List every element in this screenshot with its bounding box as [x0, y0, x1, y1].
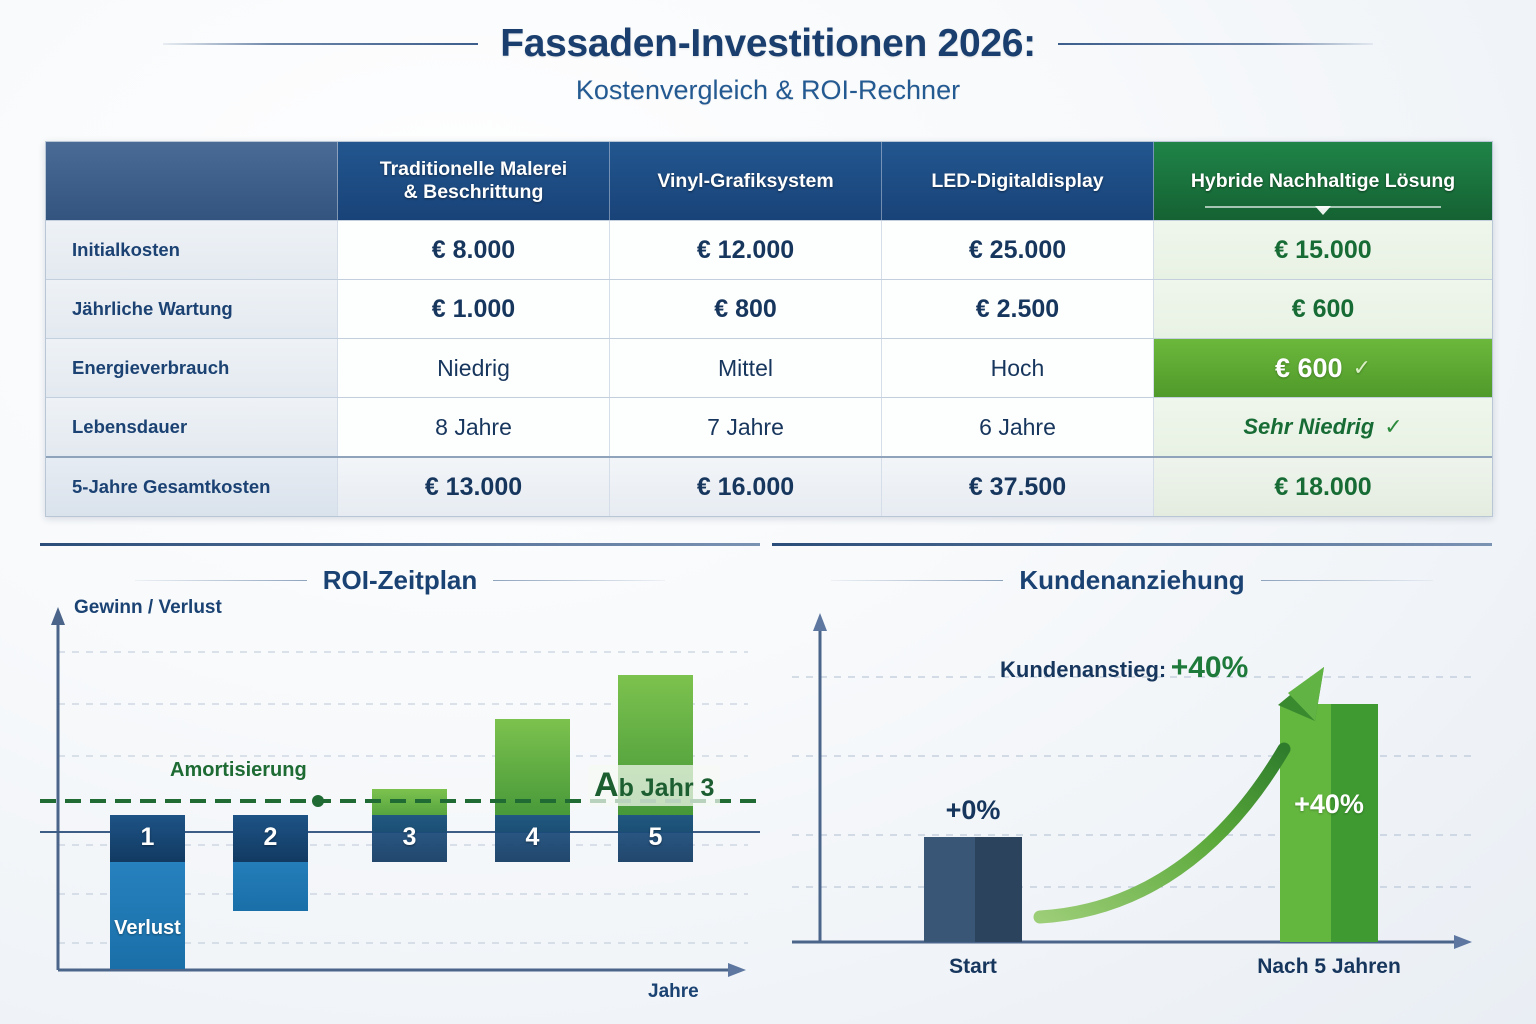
cell-hybrid-value: € 15.000 [1274, 236, 1371, 265]
row-label: 5-Jahre Gesamtkosten [46, 458, 338, 516]
bar-year-label-3: 3 [372, 823, 447, 852]
table-header-cell-vinyl: Vinyl-Grafiksystem [610, 142, 882, 220]
table-row: Energieverbrauch Niedrig Mittel Hoch € 6… [46, 338, 1492, 397]
title-row: Fassaden-Investitionen 2026: [0, 22, 1536, 66]
cell-traditional: € 1.000 [338, 280, 610, 338]
cell-hybrid: € 15.000 [1154, 221, 1492, 279]
amortisierung-point [312, 795, 324, 807]
y-axis-label: Gewinn / Verlust [74, 597, 222, 619]
bar-year-5 [618, 675, 693, 832]
x-axis-label: Jahre [648, 981, 699, 1003]
title-rule-left [163, 43, 478, 45]
table-header-row: Traditionelle Malerei & Beschrittung Vin… [46, 142, 1492, 220]
cell-traditional: Niedrig [338, 339, 610, 397]
panel-rule-right [493, 580, 665, 581]
panel-kundenanziehung: Kundenanziehung [772, 543, 1492, 998]
bar-year-label-1: 1 [110, 823, 185, 852]
cell-hybrid-value: € 600 [1275, 353, 1343, 384]
page-title: Fassaden-Investitionen 2026: [500, 22, 1036, 66]
cell-led: Hoch [882, 339, 1154, 397]
table-row: Lebensdauer 8 Jahre 7 Jahre 6 Jahre Sehr… [46, 397, 1492, 456]
row-label: Initialkosten [46, 221, 338, 279]
customer-chart: Kundenanstieg: +40% +0% +40% Start Nach … [772, 599, 1492, 997]
page-subtitle: Kostenvergleich & ROI-Rechner [0, 75, 1536, 106]
cell-hybrid-value: Sehr Niedrig [1243, 414, 1374, 440]
bar-year-label-4: 4 [495, 823, 570, 852]
panel-header: Kundenanziehung [772, 565, 1492, 596]
panel-title: Kundenanziehung [1019, 565, 1244, 596]
table-row: Initialkosten € 8.000 € 12.000 € 25.000 … [46, 220, 1492, 279]
ab-jahr-big: A [594, 766, 619, 804]
kundenanstieg-value: +40% [1171, 651, 1249, 684]
category-label-start: Start [904, 955, 1042, 979]
header-hybrid-label: Hybride Nachhaltige Lösung [1191, 170, 1455, 193]
infographic-page: Fassaden-Investitionen 2026: Kostenvergl… [0, 0, 1536, 1024]
panel-roi-zeitplan: ROI-Zeitplan [40, 543, 760, 998]
title-rule-right [1058, 43, 1373, 45]
table-row: Jährliche Wartung € 1.000 € 800 € 2.500 … [46, 279, 1492, 338]
cell-traditional: 8 Jahre [338, 398, 610, 456]
table-header-cell-hybrid: Hybride Nachhaltige Lösung [1154, 142, 1492, 220]
table-row-total: 5-Jahre Gesamtkosten € 13.000 € 16.000 €… [46, 456, 1492, 516]
table-header-cell-led: LED-Digitaldisplay [882, 142, 1154, 220]
category-label-after: Nach 5 Jahren [1239, 955, 1419, 979]
bar-year-label-2: 2 [233, 823, 308, 852]
kundenanstieg-label: Kundenanstieg: [1000, 657, 1166, 682]
cell-hybrid-value: € 600 [1292, 295, 1355, 324]
kundenanstieg-note: Kundenanstieg: +40% [1000, 651, 1248, 685]
row-label: Lebensdauer [46, 398, 338, 456]
check-icon: ✓ [1384, 414, 1402, 440]
panel-header: ROI-Zeitplan [40, 565, 760, 596]
cell-hybrid-value: € 18.000 [1274, 473, 1371, 502]
cell-traditional: € 8.000 [338, 221, 610, 279]
table-body: Initialkosten € 8.000 € 12.000 € 25.000 … [46, 220, 1492, 516]
verlust-label: Verlust [110, 917, 185, 940]
panel-rule-left [135, 580, 307, 581]
panel-title: ROI-Zeitplan [323, 565, 478, 596]
ab-jahr-rest: b Jahr 3 [619, 774, 715, 802]
bar-value-after: +40% [1280, 789, 1378, 820]
cell-led: € 25.000 [882, 221, 1154, 279]
cell-hybrid: Sehr Niedrig ✓ [1154, 398, 1492, 456]
header-traditional-line1: Traditionelle Malerei [380, 158, 567, 180]
header-traditional-line2: & Beschrittung [404, 181, 544, 203]
growth-arrow-path [1040, 749, 1284, 917]
cell-vinyl: € 16.000 [610, 458, 882, 516]
cell-hybrid: € 600 [1154, 280, 1492, 338]
bar-year-label-5: 5 [618, 823, 693, 852]
comparison-table: Traditionelle Malerei & Beschrittung Vin… [45, 141, 1493, 517]
check-icon: ✓ [1353, 355, 1371, 381]
bar-after-5-years [1280, 704, 1378, 942]
cell-vinyl: 7 Jahre [610, 398, 882, 456]
title-block: Fassaden-Investitionen 2026: Kostenvergl… [0, 22, 1536, 106]
cell-hybrid: € 18.000 [1154, 458, 1492, 516]
panel-top-rule [40, 543, 760, 546]
row-label: Jährliche Wartung [46, 280, 338, 338]
row-label: Energieverbrauch [46, 339, 338, 397]
cell-traditional: € 13.000 [338, 458, 610, 516]
cell-led: € 37.500 [882, 458, 1154, 516]
bar-start [924, 837, 1022, 942]
table-header-cell-blank [46, 142, 338, 220]
cell-led: € 2.500 [882, 280, 1154, 338]
cell-led: 6 Jahre [882, 398, 1154, 456]
panel-rule-right [1261, 580, 1433, 581]
cell-vinyl: € 12.000 [610, 221, 882, 279]
table-header-cell-traditional: Traditionelle Malerei & Beschrittung [338, 142, 610, 220]
ab-jahr-3-annotation: Ab Jahr 3 [588, 765, 720, 806]
cell-vinyl: Mittel [610, 339, 882, 397]
cell-hybrid-highlighted: € 600 ✓ [1154, 339, 1492, 397]
roi-chart: Gewinn / Verlust Amortisierung 1 2 3 4 5… [40, 599, 760, 997]
cell-vinyl: € 800 [610, 280, 882, 338]
bar-value-start: +0% [924, 795, 1022, 826]
panel-rule-left [831, 580, 1003, 581]
amortisierung-label: Amortisierung [170, 759, 307, 782]
panel-top-rule [772, 543, 1492, 546]
recommended-pointer-icon [1205, 206, 1441, 208]
